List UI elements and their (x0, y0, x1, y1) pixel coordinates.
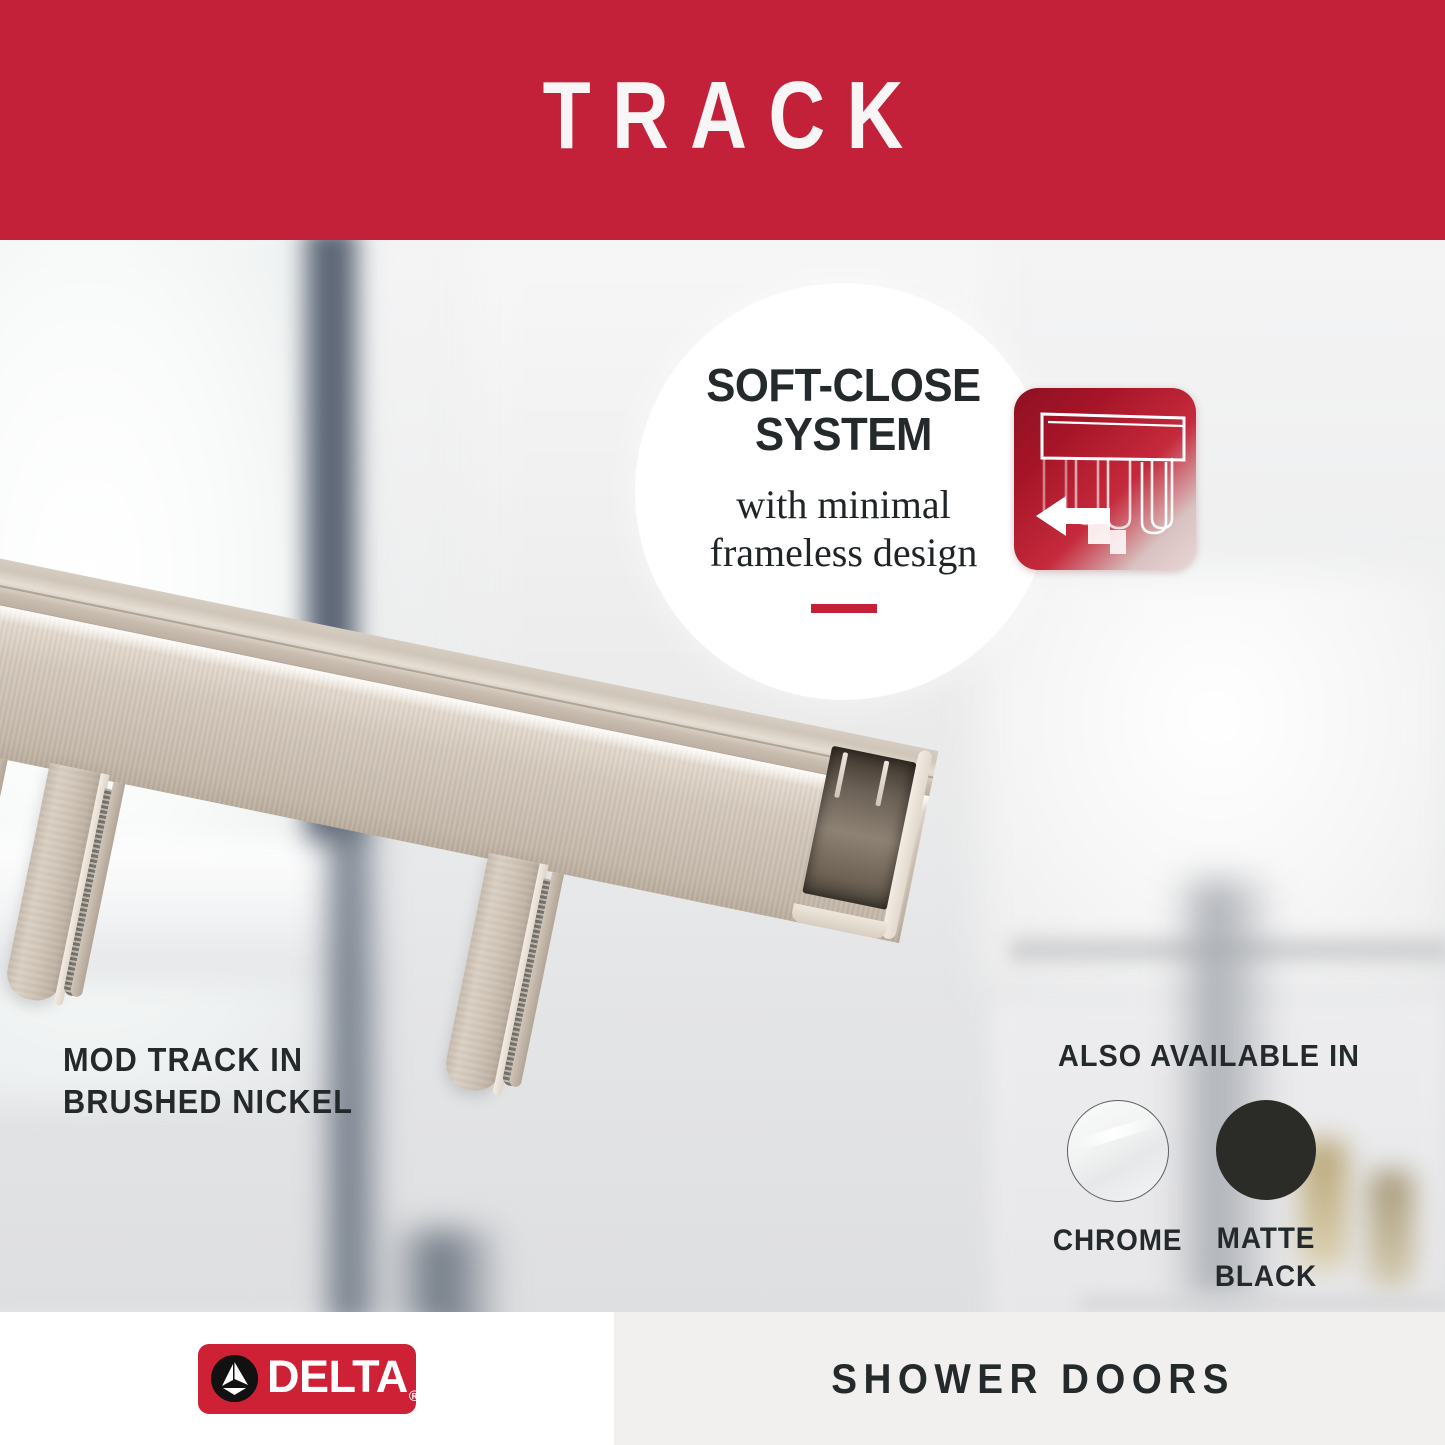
footer: DELTA® SHOWER DOORS (0, 1312, 1445, 1445)
chrome-label: CHROME (1053, 1222, 1183, 1260)
matte-black-label-line2: BLACK (1215, 1260, 1317, 1293)
product-caption: MOD TRACK IN BRUSHED NICKEL (63, 1039, 454, 1123)
delta-logo[interactable]: DELTA® (198, 1344, 416, 1414)
product-poster: TRACK (0, 0, 1445, 1445)
track-bracket (0, 739, 5, 985)
available-finishes: ALSO AVAILABLE IN CHROME MATTE BLACK (1058, 1038, 1388, 1296)
chrome-label-line1: CHROME (1053, 1224, 1183, 1257)
footer-category-title: SHOWER DOORS (824, 1355, 1234, 1403)
badge-title-line1: SOFT-CLOSE (706, 359, 980, 411)
footer-brand-area: DELTA® (0, 1312, 614, 1445)
matte-black-finish-option[interactable]: MATTE BLACK (1216, 1100, 1316, 1296)
bracket-back-plate (0, 758, 8, 974)
track-bracket (3, 763, 123, 1009)
matte-black-label-line1: MATTE (1217, 1222, 1316, 1255)
delta-wordmark: DELTA® (267, 1351, 418, 1403)
soft-close-track-arrow-icon (1014, 388, 1196, 570)
header-banner: TRACK (0, 0, 1445, 240)
bracket-gasket (0, 764, 3, 973)
delta-brand-text: DELTA (267, 1351, 408, 1402)
registered-trademark-icon: ® (409, 1388, 420, 1405)
badge-subtitle-line1: with minimal (736, 482, 950, 527)
badge-title: SOFT-CLOSE SYSTEM (706, 361, 980, 459)
matte-black-label: MATTE BLACK (1215, 1220, 1317, 1296)
background-lower-frame (386, 1230, 506, 1312)
matte-black-swatch[interactable] (1216, 1100, 1316, 1200)
footer-category-area: SHOWER DOORS (614, 1312, 1445, 1445)
channel-slot (875, 760, 889, 806)
soft-close-badge: SOFT-CLOSE SYSTEM with minimal frameless… (635, 283, 1052, 700)
track-bottom-lip (790, 903, 888, 940)
chrome-swatch[interactable] (1067, 1100, 1169, 1202)
badge-subtitle-line2: frameless design (710, 530, 978, 575)
product-caption-line1: MOD TRACK IN (63, 1039, 454, 1081)
delta-triangle-icon (211, 1355, 258, 1402)
badge-subtitle: with minimal frameless design (710, 481, 978, 579)
available-finishes-title: ALSO AVAILABLE IN (1058, 1038, 1365, 1074)
chrome-finish-option[interactable]: CHROME (1068, 1100, 1168, 1296)
badge-divider-rule (811, 604, 877, 613)
product-caption-line2: BRUSHED NICKEL (63, 1081, 454, 1123)
channel-slot (834, 752, 848, 798)
badge-title-line2: SYSTEM (755, 408, 932, 460)
page-title: TRACK (521, 68, 924, 172)
